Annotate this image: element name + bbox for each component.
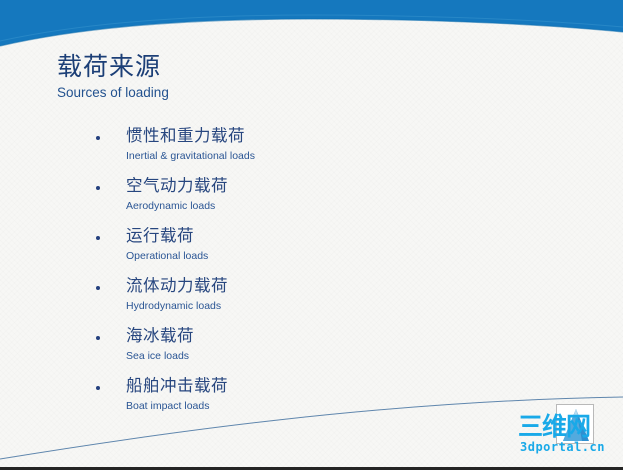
list-item-label-cn: 海冰载荷 bbox=[126, 325, 194, 347]
watermark-name: 三维网 bbox=[518, 412, 618, 442]
list-item-label-cn: 运行载荷 bbox=[126, 225, 194, 247]
list-item: 惯性和重力载荷 Inertial & gravitational loads bbox=[96, 125, 526, 175]
list-item-label-en: Aerodynamic loads bbox=[126, 199, 215, 213]
list-item-label-cn: 流体动力载荷 bbox=[126, 275, 228, 297]
list-item: 运行载荷 Operational loads bbox=[96, 225, 526, 275]
list-item: 海冰载荷 Sea ice loads bbox=[96, 325, 526, 375]
list-item-label-cn: 空气动力载荷 bbox=[126, 175, 228, 197]
list-item-label-cn: 惯性和重力载荷 bbox=[126, 125, 245, 147]
bullet-dot-icon bbox=[96, 186, 100, 190]
bullet-dot-icon bbox=[96, 136, 100, 140]
list-item-label-en: Hydrodynamic loads bbox=[126, 299, 221, 313]
slide-title-block: 载荷来源 Sources of loading bbox=[57, 52, 169, 102]
list-item-label-en: Sea ice loads bbox=[126, 349, 189, 363]
bullet-dot-icon bbox=[96, 236, 100, 240]
page-subtitle: Sources of loading bbox=[57, 84, 169, 102]
watermark-url: 3dportal.cn bbox=[520, 440, 605, 454]
header-banner bbox=[0, 0, 623, 60]
bullet-dot-icon bbox=[96, 336, 100, 340]
page-title: 载荷来源 bbox=[57, 52, 169, 82]
watermark: 三维网 3dportal.cn bbox=[518, 404, 618, 462]
list-item-label-en: Operational loads bbox=[126, 249, 208, 263]
list-item: 空气动力载荷 Aerodynamic loads bbox=[96, 175, 526, 225]
bullet-dot-icon bbox=[96, 286, 100, 290]
list-item-label-en: Inertial & gravitational loads bbox=[126, 149, 255, 163]
presentation-slide: 载荷来源 Sources of loading 惯性和重力载荷 Inertial… bbox=[0, 0, 623, 470]
list-item: 流体动力载荷 Hydrodynamic loads bbox=[96, 275, 526, 325]
